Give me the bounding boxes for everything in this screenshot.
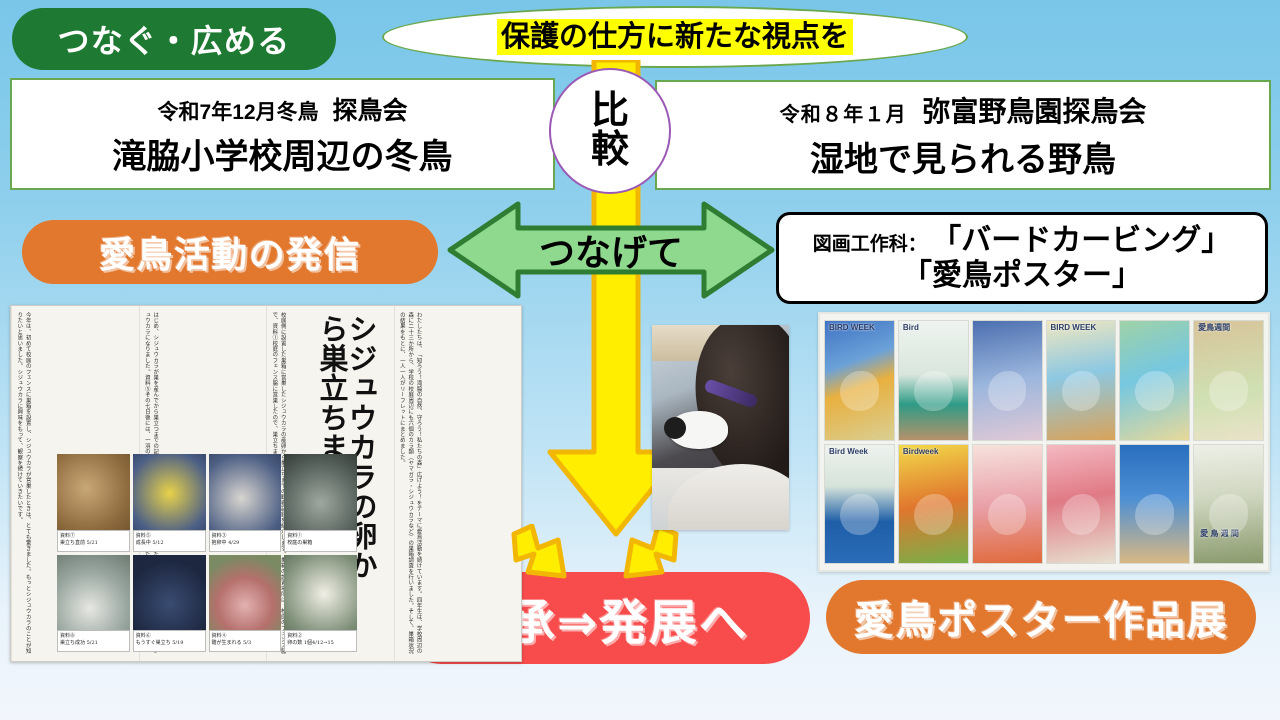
poster-label: Bird Week [829, 448, 891, 457]
bird-carving-photo [652, 325, 789, 530]
poster-item: Bird Week [824, 444, 895, 565]
carved-bird-shape [668, 411, 728, 449]
poster-exhibition-image: BIRD WEEK Bird BIRD WEEK 愛鳥週間 Bird Week … [818, 312, 1270, 572]
green-double-arrow-icon [446, 196, 776, 304]
poster-item: BIRD WEEK [1046, 320, 1117, 441]
newspaper-body-text: わたしたちは、「知ろう！滝脇の自然、守ろう！私たちの森」広げよう！をテーマに愛鳥… [395, 306, 426, 661]
survey-right-date: 令和８年１月 [780, 104, 907, 126]
zuga-kousaku-box[interactable]: 図画工作科： 「バードカービング」 「愛鳥ポスター」 [776, 212, 1268, 304]
poster-label: 愛鳥週間 [1198, 324, 1260, 333]
survey-left-event: 探鳥会 [332, 97, 407, 125]
survey-left-date: 令和7年12月冬鳥 [158, 101, 319, 124]
zuga-box-inner: 図画工作科： 「バードカービング」 「愛鳥ポスター」 [813, 223, 1231, 294]
poster-item: Birdweek [898, 444, 969, 565]
survey-right-event: 弥富野鳥園探鳥会 [922, 96, 1146, 127]
banner-tsunagu-hiromeru[interactable]: つなぐ・広める [12, 8, 336, 70]
newspaper-photo-grid: 資料⑦ 巣立ち直前 5/21 資料⑤ 成長中 5/12 資料③ 抱卵中 4/29… [57, 454, 357, 652]
banner-poster-exhibition[interactable]: 愛鳥ポスター作品展 [826, 580, 1256, 654]
poster-item [1119, 444, 1190, 565]
bird-drawing-shape [1209, 494, 1248, 534]
zuga-box-row1: 図画工作科： 「バードカービング」 [813, 223, 1231, 258]
photo-caption: 資料⑦ 巣立ち直前 5/21 [57, 530, 130, 552]
callout-ellipse-label: 保護の仕方に新たな視点を [497, 19, 853, 55]
poster-item [1119, 320, 1190, 441]
bird-drawing-shape [1062, 371, 1101, 411]
photo-caption: 資料⑧ 巣立ち成功 5/21 [57, 630, 130, 652]
bird-drawing-shape [1062, 494, 1101, 534]
poster-item [1046, 444, 1117, 565]
poster-item [972, 320, 1043, 441]
bird-drawing-shape [988, 371, 1027, 411]
zuga-item-1: 「バードカービング」 [931, 224, 1231, 257]
callout-ellipse-hogo[interactable]: 保護の仕方に新たな視点を [382, 6, 968, 68]
banner-aicho-hasshin[interactable]: 愛鳥活動の発信 [22, 220, 438, 284]
poster-label: BIRD WEEK [1051, 324, 1113, 333]
photo-caption: 資料② 卵の数 1個4/12→15 [284, 630, 357, 652]
poster-item [972, 444, 1043, 565]
newspaper-photo: 資料③ 抱卵中 4/29 [209, 454, 282, 552]
poster-item: Bird [898, 320, 969, 441]
photo-caption: 資料① 校庭の巣箱 [284, 530, 357, 552]
survey-left-line1: 令和7年12月冬鳥 探鳥会 [158, 91, 408, 127]
bird-drawing-shape [914, 494, 953, 534]
poster-item: 愛鳥週間 [1193, 320, 1264, 441]
bird-drawing-shape [1135, 371, 1174, 411]
newspaper-photo: 資料① 校庭の巣箱 [284, 454, 357, 552]
poster-label: Bird [903, 324, 965, 333]
newspaper-photo: 資料⑤ 成長中 5/12 [133, 454, 206, 552]
zuga-subject-label: 図画工作科 [813, 234, 908, 255]
slide-canvas: わたしたちは、「知ろう！滝脇の自然、守ろう！私たちの森」広げよう！をテーマに愛鳥… [0, 0, 1280, 720]
bird-drawing-shape [914, 371, 953, 411]
poster-label: Birdweek [903, 448, 965, 457]
poster-item: BIRD WEEK [824, 320, 895, 441]
zuga-colon: ： [908, 234, 927, 255]
zuga-item-2: 「愛鳥ポスター」 [902, 259, 1142, 292]
yellow-small-arrow-right-icon [612, 524, 682, 586]
poster-label: BIRD WEEK [829, 324, 891, 333]
newspaper-photo: 資料⑧ 巣立ち成功 5/21 [57, 555, 130, 653]
survey-left-line2: 滝脇小学校周辺の冬鳥 [113, 129, 453, 178]
bird-drawing-shape [840, 494, 879, 534]
photo-caption: 資料⑤ 成長中 5/12 [133, 530, 206, 552]
newspaper-body-text: 今年は、初めて校庭のフェンスに巣箱を設置し、シジュウカラが営巣したときは、とても… [12, 306, 35, 661]
newspaper-photo: 資料④ 雛が生まれる 5/3 [209, 555, 282, 653]
compare-char-2: 較 [591, 131, 629, 170]
compare-char-1: 比 [591, 92, 629, 131]
bird-drawing-shape [840, 371, 879, 411]
zuga-box-row2: 「愛鳥ポスター」 [813, 258, 1231, 293]
bird-drawing-shape [988, 494, 1027, 534]
newspaper-photo: 資料⑦ 巣立ち直前 5/21 [57, 454, 130, 552]
survey-right-line1: 令和８年１月 弥富野鳥園探鳥会 [780, 90, 1147, 130]
survey-right-line2: 湿地で見られる野鳥 [810, 132, 1116, 181]
photo-caption: 資料④ 雛が生まれる 5/3 [209, 630, 282, 652]
newspaper-photo: 資料⑥ もうすぐ巣立ち 5/19 [133, 555, 206, 653]
poster-grid: BIRD WEEK Bird BIRD WEEK 愛鳥週間 Bird Week … [824, 320, 1264, 564]
photo-caption: 資料⑥ もうすぐ巣立ち 5/19 [133, 630, 206, 652]
poster-item: 愛 鳥 週 間 [1193, 444, 1264, 565]
compare-circle[interactable]: 比 較 [549, 68, 671, 194]
newspaper-photo: 資料② 卵の数 1個4/12→15 [284, 555, 357, 653]
photo-caption: 資料③ 抱卵中 4/29 [209, 530, 282, 552]
yellow-small-arrow-left-icon [508, 524, 578, 586]
bird-drawing-shape [1135, 494, 1174, 534]
bird-drawing-shape [1209, 371, 1248, 411]
